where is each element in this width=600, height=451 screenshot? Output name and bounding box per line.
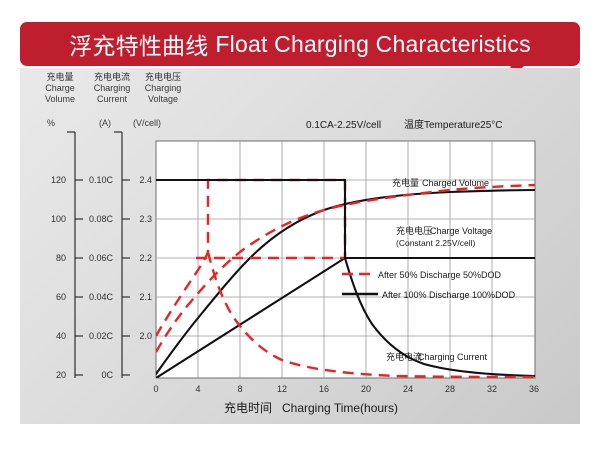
annotation-charged-volume-cn: 充电量 bbox=[392, 177, 419, 188]
condition-rate: 0.1CA-2.25V/cell bbox=[306, 120, 381, 131]
axis-ruler-charging-current bbox=[114, 132, 130, 378]
tick-x-3: 12 bbox=[277, 384, 287, 394]
annotation-charged-volume-en: Charged Volume bbox=[422, 178, 489, 188]
tick-charging-current-5: 0C bbox=[101, 370, 113, 380]
tick-charging-current-4: 0.02C bbox=[89, 331, 114, 341]
tick-charge-volume-3: 60 bbox=[56, 292, 66, 302]
tick-charging-current-3: 0.04C bbox=[89, 292, 114, 302]
tick-charging-voltage-3: 2.1 bbox=[139, 292, 152, 302]
condition-temperature: 温度Temperature25°C bbox=[404, 118, 502, 131]
x-axis-title-en: Charging Time(hours) bbox=[282, 401, 398, 415]
annotation-charge-voltage-sub: (Constant 2.25V/cell) bbox=[396, 238, 476, 248]
tick-charge-volume-0: 120 bbox=[51, 175, 66, 185]
annotation-charge-voltage-cn: 充电电压 bbox=[396, 225, 432, 236]
tick-x-5: 20 bbox=[361, 384, 371, 394]
tick-charging-current-1: 0.08C bbox=[89, 214, 114, 224]
tick-x-4: 16 bbox=[319, 384, 329, 394]
annotation-charging-current-en: Charging Current bbox=[418, 352, 488, 362]
tick-x-6: 24 bbox=[403, 384, 413, 394]
tick-charge-volume-4: 40 bbox=[56, 331, 66, 341]
chart-svg: 120 100 80 60 40 20 0.10C 0.08C 0.06C 0.… bbox=[0, 0, 600, 451]
tick-charge-volume-1: 100 bbox=[51, 214, 66, 224]
tick-charge-volume-2: 80 bbox=[56, 253, 66, 263]
tick-charging-voltage-2: 2.2 bbox=[139, 253, 152, 263]
x-axis-title-cn: 充电时间 bbox=[224, 400, 272, 415]
tick-charge-volume-5: 20 bbox=[56, 370, 66, 380]
tick-x-8: 32 bbox=[487, 384, 497, 394]
tick-charging-voltage-0: 2.4 bbox=[139, 175, 152, 185]
legend-label-50dod: After 50% Discharge 50%DOD bbox=[378, 270, 502, 280]
tick-charging-current-0: 0.10C bbox=[89, 175, 114, 185]
axis-ruler-charge-volume bbox=[67, 132, 83, 378]
tick-charging-voltage-4: 2.0 bbox=[139, 331, 152, 341]
tick-x-9: 36 bbox=[529, 384, 539, 394]
tick-charging-current-2: 0.06C bbox=[89, 253, 114, 263]
chart-page: 浮充特性曲线 Float Charging Characteristics 充电… bbox=[0, 0, 600, 451]
annotation-charge-voltage-en: Charge Voltage bbox=[430, 226, 492, 236]
annotation-charging-current-cn: 充电电流 bbox=[386, 351, 422, 362]
tick-x-0: 0 bbox=[153, 384, 158, 394]
tick-x-7: 28 bbox=[445, 384, 455, 394]
tick-charging-voltage-1: 2.3 bbox=[139, 214, 152, 224]
tick-x-2: 8 bbox=[237, 384, 242, 394]
legend-label-100dod: After 100% Discharge 100%DOD bbox=[382, 290, 516, 300]
tick-x-1: 4 bbox=[195, 384, 200, 394]
